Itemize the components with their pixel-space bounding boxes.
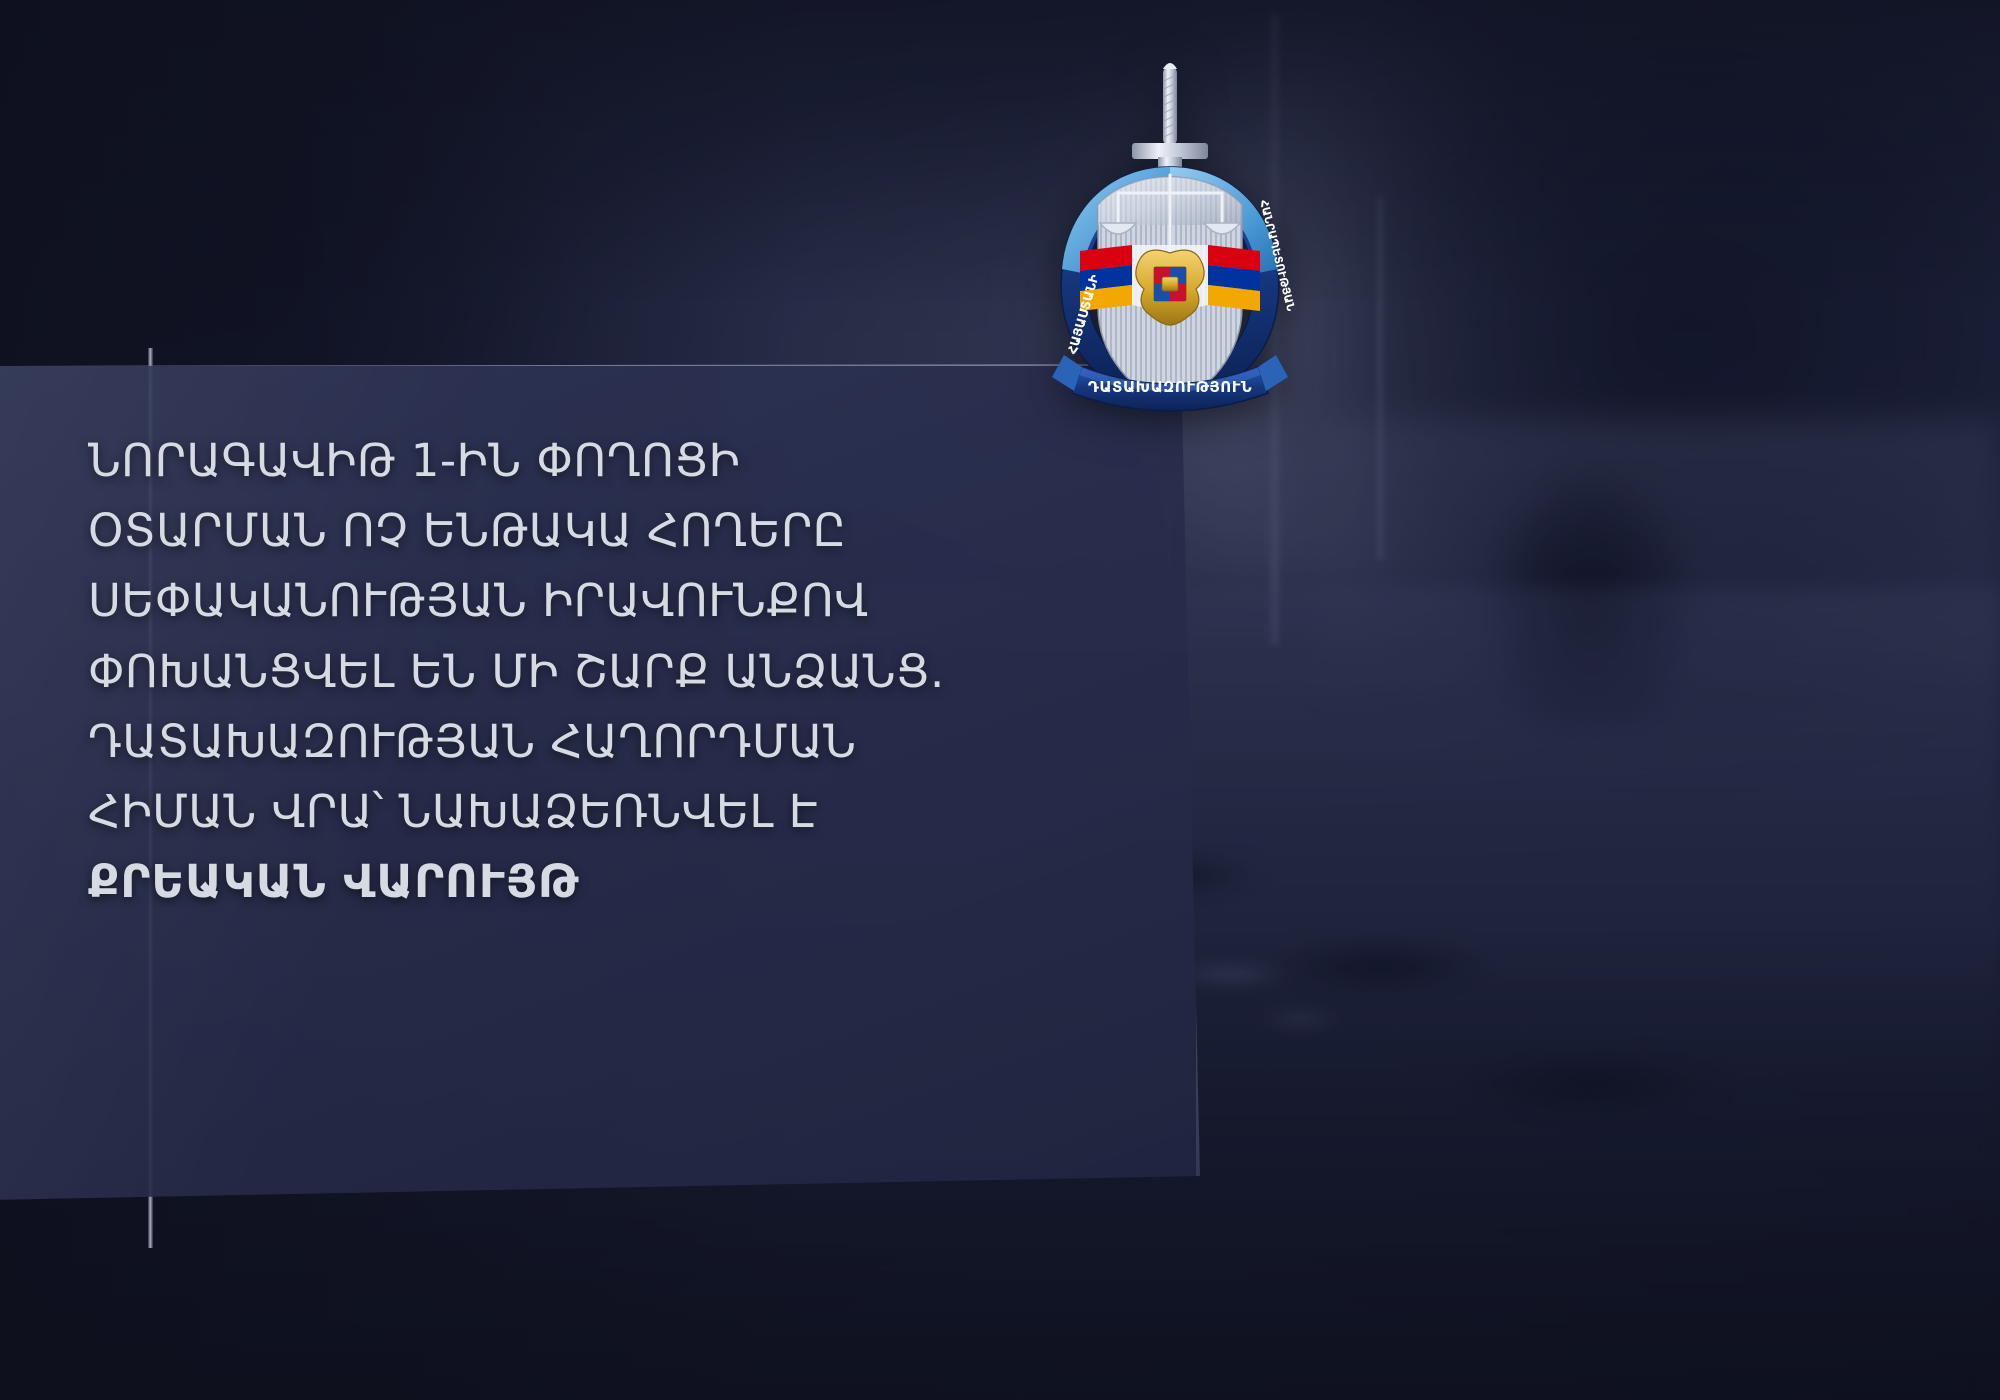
emblem-ribbon-bottom-text: ԴԱՏԱԽԱԶՈՒԹՅՈՒՆ (1088, 378, 1252, 396)
headline-line-2: ՕՏԱՐՄԱՆ ՈՉ ԵՆԹԱԿԱ ՀՈՂԵՐԸ (88, 496, 1138, 566)
text-panel: ՆՈՐԱԳԱՎԻԹ 1-ԻՆ ՓՈՂՈՑԻ ՕՏԱՐՄԱՆ ՈՉ ԵՆԹԱԿԱ … (0, 364, 1200, 1202)
sword-icon (1132, 63, 1208, 175)
announcement-headline: ՆՈՐԱԳԱՎԻԹ 1-ԻՆ ՓՈՂՈՑԻ ՕՏԱՐՄԱՆ ՈՉ ԵՆԹԱԿԱ … (88, 426, 1138, 917)
headline-line-3: ՍԵՓԱԿԱՆՈՒԹՅԱՆ ԻՐԱՎՈՒՆՔՈՎ (88, 566, 1138, 636)
announcement-graphic: ՆՈՐԱԳԱՎԻԹ 1-ԻՆ ՓՈՂՈՑԻ ՕՏԱՐՄԱՆ ՈՉ ԵՆԹԱԿԱ … (0, 0, 2000, 1400)
headline-line-5: ԴԱՏԱԽԱԶՈՒԹՅԱՆ ՀԱՂՈՐԴՄԱՆ (88, 707, 1138, 777)
headline-line-1: ՆՈՐԱԳԱՎԻԹ 1-ԻՆ ՓՈՂՈՑԻ (88, 426, 1138, 496)
headline-emphasis: ՔՐԵԱԿԱՆ ՎԱՐՈՒՅԹ (88, 847, 1138, 917)
emblem-svg: ԴԱՏԱԽԱԶՈՒԹՅՈՒՆ ՀԱՅԱՍՏԱՆԻ ՀԱՆՐԱՊԵՏՈՒԹՅԱՆ (1020, 55, 1320, 425)
headline-line-4: ՓՈԽԱՆՑՎԵԼ ԵՆ ՄԻ ՇԱՐՔ ԱՆՁԱՆՑ. (88, 637, 1138, 707)
headline-line-6: ՀԻՄԱՆ ՎՐԱ՝ ՆԱԽԱՁԵՌՆՎԵԼ Է (88, 777, 1138, 847)
prosecutor-office-emblem: ԴԱՏԱԽԱԶՈՒԹՅՈՒՆ ՀԱՅԱՍՏԱՆԻ ՀԱՆՐԱՊԵՏՈՒԹՅԱՆ (1020, 55, 1320, 475)
